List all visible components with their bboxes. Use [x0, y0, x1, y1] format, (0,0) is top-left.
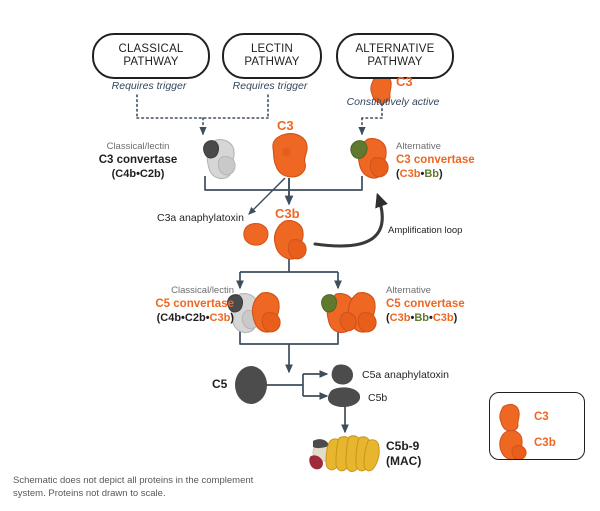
classical-c5-convertase-label: Classical/lectin C5 convertase (C4b•C2b•… [122, 285, 234, 325]
label-mac-line2: (MAC) [386, 454, 421, 469]
pathway-note-lectin: Requires trigger [216, 80, 324, 92]
sub-bb: Bb [424, 168, 439, 180]
protein-c3b-central [274, 221, 306, 259]
sub-c2b: C2b [140, 168, 161, 180]
label-c5b: C5b [368, 392, 387, 404]
legend-c3b-icon [500, 431, 526, 459]
protein-alternative-c3-convertase [351, 139, 388, 178]
c3-convertase-bracket [205, 176, 362, 190]
legend-box: C3 C3b [489, 392, 585, 460]
protein-c5b [328, 387, 360, 407]
pathway-capsule-alternative[interactable]: ALTERNATIVE PATHWAY [336, 33, 454, 79]
classical-c3-convertase-name: C3 convertase [78, 153, 198, 167]
label-c3a-anaphylatoxin: C3a anaphylatoxin [157, 212, 244, 224]
pathway-alternative-line2: PATHWAY [355, 56, 434, 70]
classical-c5-convertase-subunits: (C4b•C2b•C3b) [122, 311, 234, 325]
legend-label-c3b: C3b [534, 437, 556, 449]
protein-classical-c3-convertase [204, 140, 236, 179]
label-c3-alternative: C3 [396, 74, 413, 89]
label-c3b: C3b [275, 206, 300, 221]
pathway-note-alternative: Constitutively active [330, 96, 456, 108]
pathway-note-classical: Requires trigger [92, 80, 206, 92]
pathway-capsule-lectin[interactable]: LECTIN PATHWAY [222, 33, 322, 79]
label-mac-line1: C5b-9 [386, 439, 421, 454]
protein-c5a [332, 365, 353, 385]
pathway-classical-line2: PATHWAY [118, 56, 183, 70]
classical-c5-convertase-kicker: Classical/lectin [122, 285, 234, 297]
trigger-connector-classical-lectin [137, 95, 268, 118]
c5-convertase-merge-bracket [240, 330, 338, 344]
sub-bb: Bb [414, 312, 429, 324]
sub-c4b: C4b [115, 168, 136, 180]
sub-paren-close: ) [230, 312, 234, 324]
diagram-canvas: CLASSICAL PATHWAY LECTIN PATHWAY ALTERNA… [0, 0, 600, 511]
label-c3-central: C3 [277, 118, 294, 133]
sub-paren-close: ) [439, 168, 443, 180]
label-c5: C5 [212, 377, 227, 391]
sub-paren-close: ) [161, 168, 165, 180]
alternative-c3-convertase-kicker: Alternative [396, 141, 522, 153]
classical-c3-convertase-subunits: (C4b•C2b) [78, 167, 198, 181]
label-mac: C5b-9 (MAC) [386, 439, 421, 469]
alternative-c3-convertase-subunits: (C3b•Bb) [396, 167, 522, 181]
sub-c2b: C2b [185, 312, 206, 324]
alternative-c3-convertase-name: C3 convertase [396, 153, 522, 167]
protein-c3a [244, 224, 268, 246]
legend-graphics [490, 393, 584, 459]
alternative-c3-convertase-label: Alternative C3 convertase (C3b•Bb) [396, 141, 522, 181]
pathway-lectin-line2: PATHWAY [244, 56, 299, 70]
footnote: Schematic does not depict all proteins i… [13, 474, 263, 500]
protein-alternative-c5-convertase [322, 293, 377, 333]
alternative-c5-convertase-subunits: (C3b•Bb•C3b) [386, 311, 526, 325]
classical-c5-convertase-name: C5 convertase [122, 297, 234, 311]
protein-c3-central [273, 134, 307, 177]
classical-c3-convertase-label: Classical/lectin C3 convertase (C4b•C2b) [78, 141, 198, 181]
alternative-c5-convertase-kicker: Alternative [386, 285, 526, 297]
label-amplification-loop: Amplification loop [388, 225, 462, 236]
protein-classical-c5-convertase [228, 293, 281, 333]
protein-mac-complex [309, 436, 379, 472]
pathway-alternative-line1: ALTERNATIVE [355, 43, 434, 57]
legend-label-c3: C3 [534, 411, 549, 423]
sub-c3b: C3b [400, 168, 421, 180]
sub-c4b: C4b [160, 312, 181, 324]
pathway-capsule-classical[interactable]: CLASSICAL PATHWAY [92, 33, 210, 79]
sub-paren-close: ) [454, 312, 458, 324]
classical-c3-convertase-kicker: Classical/lectin [78, 141, 198, 153]
protein-bb-subunit-c5 [322, 295, 337, 312]
legend-c3-icon [500, 404, 519, 431]
sub-c3b2: C3b [433, 312, 454, 324]
sub-c3b: C3b [210, 312, 231, 324]
sub-c3b1: C3b [390, 312, 411, 324]
pathway-lectin-line1: LECTIN [244, 43, 299, 57]
protein-c5 [235, 366, 267, 404]
amplification-loop-arrow [315, 196, 382, 246]
alternative-c5-convertase-label: Alternative C5 convertase (C3b•Bb•C3b) [386, 285, 526, 325]
label-c5a-anaphylatoxin: C5a anaphylatoxin [362, 369, 449, 381]
protein-bb-subunit [351, 141, 367, 159]
alternative-c5-convertase-name: C5 convertase [386, 297, 526, 311]
pathway-classical-line1: CLASSICAL [118, 43, 183, 57]
